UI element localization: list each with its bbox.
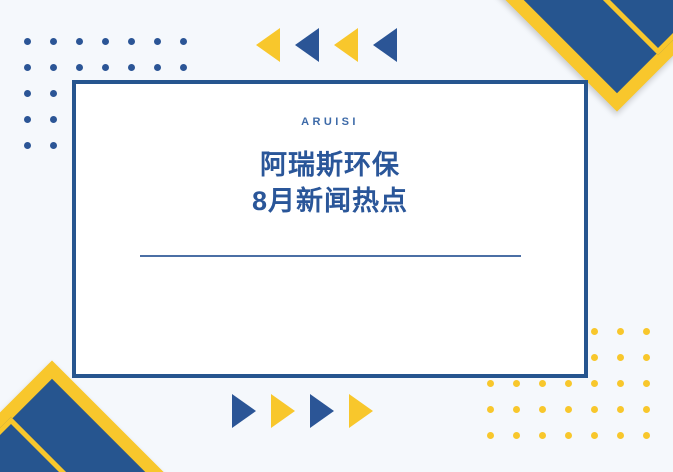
- title-line-secondary: 8月新闻热点: [252, 183, 408, 219]
- dot: [513, 380, 520, 387]
- triangle-left-icon: [256, 28, 280, 62]
- dot: [50, 142, 57, 149]
- title-divider: [140, 255, 521, 257]
- dot: [513, 432, 520, 439]
- dot: [643, 380, 650, 387]
- dot: [643, 406, 650, 413]
- dot: [24, 142, 31, 149]
- dot: [50, 38, 57, 45]
- dot: [24, 38, 31, 45]
- dot: [565, 406, 572, 413]
- dot: [539, 432, 546, 439]
- dot: [487, 406, 494, 413]
- dot: [617, 354, 624, 361]
- dot: [591, 432, 598, 439]
- triangle-left-icon: [334, 28, 358, 62]
- triangle-right-icon: [349, 394, 373, 428]
- dot: [180, 64, 187, 71]
- triangle-right-icon: [310, 394, 334, 428]
- dot: [24, 64, 31, 71]
- dot: [539, 380, 546, 387]
- dot: [102, 64, 109, 71]
- triangle-left-icon: [373, 28, 397, 62]
- dot: [154, 38, 161, 45]
- dot: [643, 328, 650, 335]
- dot: [50, 116, 57, 123]
- dot: [617, 380, 624, 387]
- dot: [180, 38, 187, 45]
- triangle-right-icon: [232, 394, 256, 428]
- triangle-right-icon: [271, 394, 295, 428]
- dot: [617, 328, 624, 335]
- triangle-row-bottom: [232, 394, 388, 428]
- dot: [539, 406, 546, 413]
- dot: [591, 354, 598, 361]
- dot: [76, 64, 83, 71]
- ornament-bottom-left: [0, 368, 138, 472]
- title-line-primary: 阿瑞斯环保: [252, 147, 408, 183]
- dot: [487, 380, 494, 387]
- brand-eyebrow: ARUISI: [301, 116, 359, 128]
- dot: [50, 64, 57, 71]
- page-title: 阿瑞斯环保 8月新闻热点: [252, 147, 408, 219]
- triangle-left-icon: [295, 28, 319, 62]
- dot: [565, 432, 572, 439]
- dot: [24, 90, 31, 97]
- dot: [102, 38, 109, 45]
- dot: [50, 90, 57, 97]
- dot: [513, 406, 520, 413]
- dot: [24, 116, 31, 123]
- dot: [643, 354, 650, 361]
- dot: [128, 38, 135, 45]
- triangle-row-top: [256, 28, 412, 62]
- dot: [487, 432, 494, 439]
- dot: [617, 432, 624, 439]
- dot: [128, 64, 135, 71]
- dot: [591, 328, 598, 335]
- title-card: ARUISI 阿瑞斯环保 8月新闻热点: [72, 80, 588, 378]
- dot: [565, 380, 572, 387]
- dot: [591, 406, 598, 413]
- dot: [76, 38, 83, 45]
- dot: [643, 432, 650, 439]
- dot: [617, 406, 624, 413]
- slide-canvas: ARUISI 阿瑞斯环保 8月新闻热点: [0, 0, 673, 472]
- dot: [591, 380, 598, 387]
- dot: [154, 64, 161, 71]
